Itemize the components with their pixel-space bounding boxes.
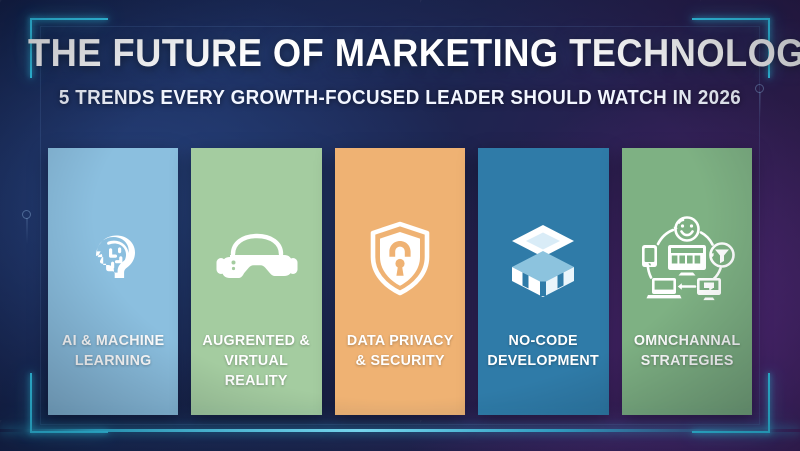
brain-head-icon [76,220,150,298]
trend-card-ai-machine-learning[interactable]: AI & MACHINE LEARNING [48,148,178,415]
trend-card-label: DATA PRIVACY & SECURITY [344,331,456,371]
trend-card-no-code-development[interactable]: NO-CODE DEVELOPMENT [478,148,608,415]
page-title: THE FUTURE OF MARKETING TECHNOLOGY: [28,32,772,76]
page-subtitle: 5 TRENDS EVERY GROWTH-FOCUSED LEADER SHO… [24,87,776,110]
isometric-block-icon [504,220,582,298]
trend-card-label: AUGRENTED & VIRTUAL REALITY [200,331,312,390]
heading-group: THE FUTURE OF MARKETING TECHNOLOGY: 5 TR… [0,32,800,110]
trend-card-label: AI & MACHINE LEARNING [57,331,169,371]
circuit-node-icon [22,210,31,219]
omnichannel-devices-icon [635,220,739,298]
trend-card-list: AI & MACHINE LEARNING [48,148,752,415]
vr-headset-icon [216,220,298,298]
trend-card-label: NO-CODE DEVELOPMENT [487,331,599,371]
bottom-accent-glow [0,429,800,432]
trend-card-data-privacy-security[interactable]: DATA PRIVACY & SECURITY [335,148,465,415]
trend-card-augmented-virtual-reality[interactable]: AUGRENTED & VIRTUAL REALITY [191,148,321,415]
infographic-poster: THE FUTURE OF MARKETING TECHNOLOGY: 5 TR… [0,0,800,451]
shield-lock-icon [368,220,432,298]
trend-card-label: OMNCHANNAL STRATEGIES [631,331,743,371]
trend-card-omnichannel-strategies[interactable]: OMNCHANNAL STRATEGIES [622,148,752,415]
